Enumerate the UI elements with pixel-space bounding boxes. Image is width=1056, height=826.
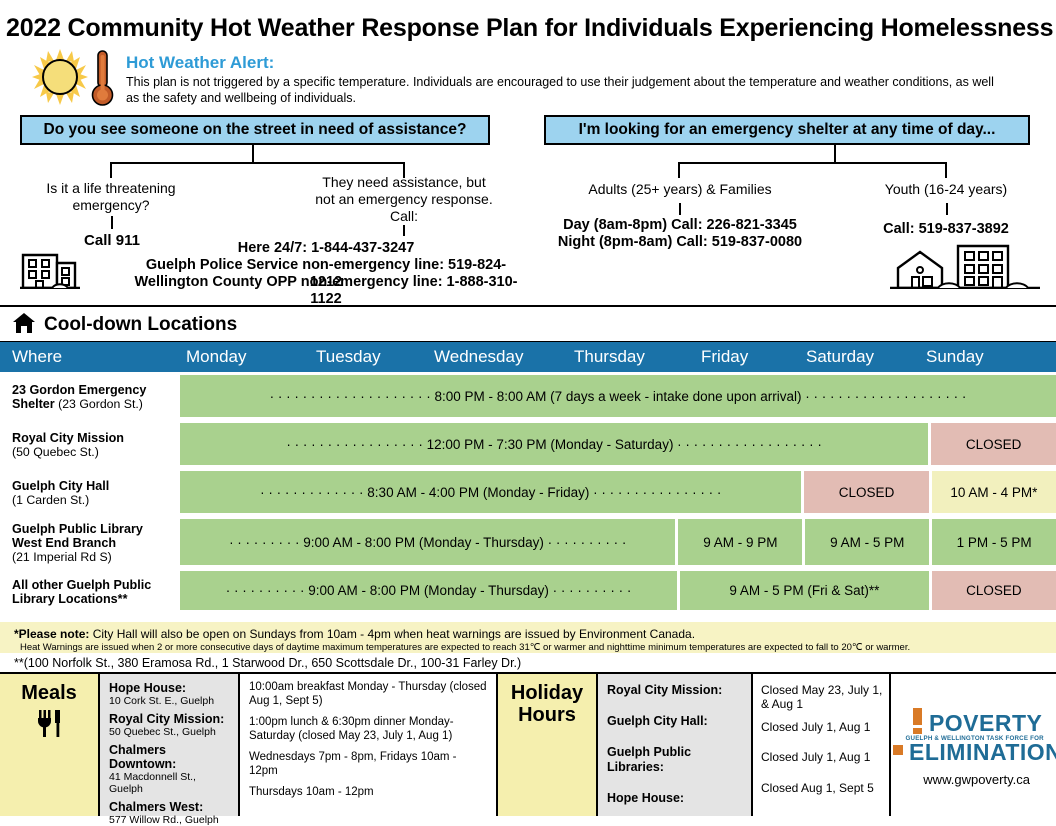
table-row: 23 Gordon Emergency Shelter (23 Gordon S… <box>0 372 1056 420</box>
house-icon <box>12 311 36 340</box>
meal-detail: Thursdays 10am - 12pm <box>249 786 488 800</box>
sun-thermometer-icon <box>28 49 120 107</box>
row-address: (23 Gordon St.) <box>58 397 143 411</box>
row-label: All other Guelph Public Library Location… <box>0 568 180 613</box>
fork-knife-icon <box>32 706 66 745</box>
cell-hours: · · · · · · · · · · · · · · · · · 12:00 … <box>180 423 928 465</box>
row-address: (1 Carden St.) <box>12 493 172 507</box>
holiday-value: Closed Aug 1, Sept 5 <box>761 781 883 795</box>
holiday-value: Closed July 1, Aug 1 <box>761 750 883 764</box>
cell-saturday: 9 AM - 5 PM <box>805 519 929 565</box>
cooldown-section-header: Cool-down Locations <box>0 310 1056 340</box>
meal-place-name: Hope House: <box>109 681 230 695</box>
house-building-icon-right <box>890 244 1040 294</box>
note-library-addresses: **(100 Norfolk St., 380 Eramosa Rd., 1 S… <box>0 653 1056 673</box>
note-please-rest: City Hall will also be open on Sundays f… <box>89 627 695 641</box>
cell-hours: · · · · · · · · · · · · · · · · · · · · … <box>180 375 1056 417</box>
meals-details-column: 10:00am breakfast Monday - Thursday (clo… <box>240 674 498 816</box>
holiday-value: Closed July 1, Aug 1 <box>761 720 883 734</box>
row-name: All other Guelph Public Library Location… <box>12 578 172 606</box>
meal-place-address: 50 Quebec St., Guelph <box>109 726 230 738</box>
flow-right-drop-2 <box>945 162 947 178</box>
flow-right-branch2-label: Youth (16-24 years) <box>866 181 1026 198</box>
holiday-values-column: Closed May 23, July 1, & Aug 1 Closed Ju… <box>753 674 891 816</box>
flow-left-drop-2b <box>403 225 405 236</box>
building-icon-left <box>20 241 80 294</box>
holiday-value: Closed May 23, July 1, & Aug 1 <box>761 683 883 711</box>
flow-left-branch2-label: They need assistance, but not an emergen… <box>312 174 496 225</box>
table-row: All other Guelph Public Library Location… <box>0 568 1056 613</box>
alert-body: This plan is not triggered by a specific… <box>126 74 1006 107</box>
meal-place: Hope House: 10 Cork St. E., Guelph <box>109 681 230 707</box>
row-cells: · · · · · · · · · · · · · 8:30 AM - 4:00… <box>180 468 1056 516</box>
cooldown-title: Cool-down Locations <box>44 314 237 336</box>
col-wednesday: Wednesday <box>428 347 568 367</box>
flow-left-branch1-label: Is it a life threatening emergency? <box>25 180 197 214</box>
meal-place-address: 10 Cork St. E., Guelph <box>109 695 230 707</box>
flow-left-drop-1b <box>111 216 113 229</box>
note-please-bold: *Please note: <box>14 627 89 641</box>
cell-friday: 9 AM - 9 PM <box>678 519 802 565</box>
flow-left-stem <box>252 145 254 163</box>
flow-right-branch1-label: Adults (25+ years) & Families <box>570 181 790 198</box>
row-cells: · · · · · · · · · 9:00 AM - 8:00 PM (Mon… <box>180 516 1056 568</box>
flow-right-line-3: Call: 519-837-3892 <box>866 221 1026 238</box>
holiday-place-name: Guelph City Hall: <box>607 714 743 729</box>
flow-right-crossbar <box>678 162 946 164</box>
col-saturday: Saturday <box>800 347 920 367</box>
row-name: Royal City Mission <box>12 431 172 445</box>
meal-place-name: Chalmers West: <box>109 800 230 814</box>
flow-left-crossbar <box>110 162 404 164</box>
bottom-panels: Meals Hope House: 10 Cork St. E., Guelph <box>0 672 1056 816</box>
holiday-title-line1: Holiday <box>511 682 583 704</box>
cell-sunday: 1 PM - 5 PM <box>932 519 1056 565</box>
row-address: (50 Quebec St.) <box>12 445 172 459</box>
cell-fri-sat: 9 AM - 5 PM (Fri & Sat)** <box>680 571 929 610</box>
flow-right-line-1: Day (8am-8pm) Call: 226-821-3345 <box>530 217 830 234</box>
row-name: Guelph Public Library West End Branch <box>12 522 172 550</box>
row-address: (21 Imperial Rd S) <box>12 550 172 564</box>
row-label: 23 Gordon Emergency Shelter (23 Gordon S… <box>0 372 180 420</box>
cell-closed: CLOSED <box>932 571 1056 610</box>
holiday-place-name: Guelph Public Libraries: <box>607 745 743 775</box>
cell-closed: CLOSED <box>804 471 928 513</box>
flow-right-line-2: Night (8pm-8am) Call: 519-837-0080 <box>530 234 830 251</box>
meals-title-text: Meals <box>21 682 77 704</box>
hot-weather-alert: Hot Weather Alert: This plan is not trig… <box>0 49 1056 111</box>
flow-right-header: I'm looking for an emergency shelter at … <box>544 115 1030 145</box>
notes-block: *Please note: City Hall will also be ope… <box>0 622 1056 653</box>
col-thursday: Thursday <box>568 347 695 367</box>
logo-bottom-row: ELIMINATION <box>891 739 1056 766</box>
meal-place: Chalmers West: 577 Willow Rd., Guelph <box>109 800 230 826</box>
meal-place: Chalmers Downtown: 41 Macdonnell St., Gu… <box>109 743 230 795</box>
table-row: Guelph Public Library West End Branch (2… <box>0 516 1056 568</box>
alert-heading: Hot Weather Alert: <box>126 53 1006 73</box>
cooldown-table: Where Monday Tuesday Wednesday Thursday … <box>0 342 1056 613</box>
decision-flowchart: Do you see someone on the street in need… <box>0 111 1056 289</box>
holiday-names-column: Royal City Mission: Guelph City Hall: Gu… <box>598 674 753 816</box>
logo-url: www.gwpoverty.ca <box>923 772 1030 787</box>
flow-right-drop-1 <box>678 162 680 178</box>
logo-panel: POVERTY GUELPH & WELLINGTON TASK FORCE F… <box>891 674 1056 816</box>
row-label: Guelph Public Library West End Branch (2… <box>0 516 180 568</box>
note-please: *Please note: City Hall will also be ope… <box>14 627 1044 641</box>
square-bullet-icon <box>891 743 905 762</box>
holiday-title-line2: Hours <box>518 704 576 726</box>
table-row: Guelph City Hall (1 Carden St.) · · · · … <box>0 468 1056 516</box>
logo-word-elimination: ELIMINATION <box>909 739 1056 766</box>
meals-panel-title: Meals <box>0 674 100 816</box>
col-monday: Monday <box>180 347 310 367</box>
infographic-page: 2022 Community Hot Weather Response Plan… <box>0 0 1056 816</box>
col-where: Where <box>0 347 180 367</box>
table-row: Royal City Mission (50 Quebec St.) · · ·… <box>0 420 1056 468</box>
cell-hours: · · · · · · · · · · · · · 8:30 AM - 4:00… <box>180 471 801 513</box>
meal-detail: Wednesdays 7pm - 8pm, Fridays 10am - 12p… <box>249 751 488 778</box>
meals-names-column: Hope House: 10 Cork St. E., Guelph Royal… <box>100 674 240 816</box>
page-title: 2022 Community Hot Weather Response Plan… <box>0 0 1056 49</box>
cell-closed: CLOSED <box>931 423 1056 465</box>
flow-left-drop-1 <box>110 162 112 178</box>
meal-place-name: Royal City Mission: <box>109 712 230 726</box>
divider-top <box>0 305 1056 307</box>
col-friday: Friday <box>695 347 800 367</box>
flow-right-drop-2b <box>946 203 948 215</box>
row-label: Royal City Mission (50 Quebec St.) <box>0 420 180 468</box>
logo-word-poverty: POVERTY <box>929 710 1042 737</box>
row-name: Guelph City Hall <box>12 479 172 493</box>
flow-left-line-3: Wellington County OPP non-emergency line… <box>130 274 522 308</box>
table-header-row: Where Monday Tuesday Wednesday Thursday … <box>0 342 1056 372</box>
cell-hours: · · · · · · · · · 9:00 AM - 8:00 PM (Mon… <box>180 519 675 565</box>
flow-right-stem <box>834 145 836 163</box>
holiday-place-name: Hope House: <box>607 791 743 806</box>
flow-left-line-1: Here 24/7: 1-844-437-3247 <box>130 240 522 257</box>
col-sunday: Sunday <box>920 347 1056 367</box>
row-cells: · · · · · · · · · · · · · · · · · · · · … <box>180 372 1056 420</box>
meal-place-name: Chalmers Downtown: <box>109 743 230 771</box>
cell-hours: · · · · · · · · · · 9:00 AM - 8:00 PM (M… <box>180 571 677 610</box>
meal-place: Royal City Mission: 50 Quebec St., Guelp… <box>109 712 230 738</box>
meal-detail: 1:00pm lunch & 6:30pm dinner Monday-Satu… <box>249 716 488 743</box>
holiday-panel-title: Holiday Hours <box>498 674 598 816</box>
cell-sunday-hours: 10 AM - 4 PM* <box>932 471 1056 513</box>
row-label: Guelph City Hall (1 Carden St.) <box>0 468 180 516</box>
meal-place-address: 41 Macdonnell St., Guelph <box>109 771 230 795</box>
flow-right-drop-1b <box>679 203 681 215</box>
col-tuesday: Tuesday <box>310 347 428 367</box>
row-cells: · · · · · · · · · · · · · · · · · 12:00 … <box>180 420 1056 468</box>
holiday-place-name: Royal City Mission: <box>607 683 743 698</box>
row-cells: · · · · · · · · · · 9:00 AM - 8:00 PM (M… <box>180 568 1056 613</box>
flow-left-header: Do you see someone on the street in need… <box>20 115 490 145</box>
meal-detail: 10:00am breakfast Monday - Thursday (clo… <box>249 681 488 708</box>
